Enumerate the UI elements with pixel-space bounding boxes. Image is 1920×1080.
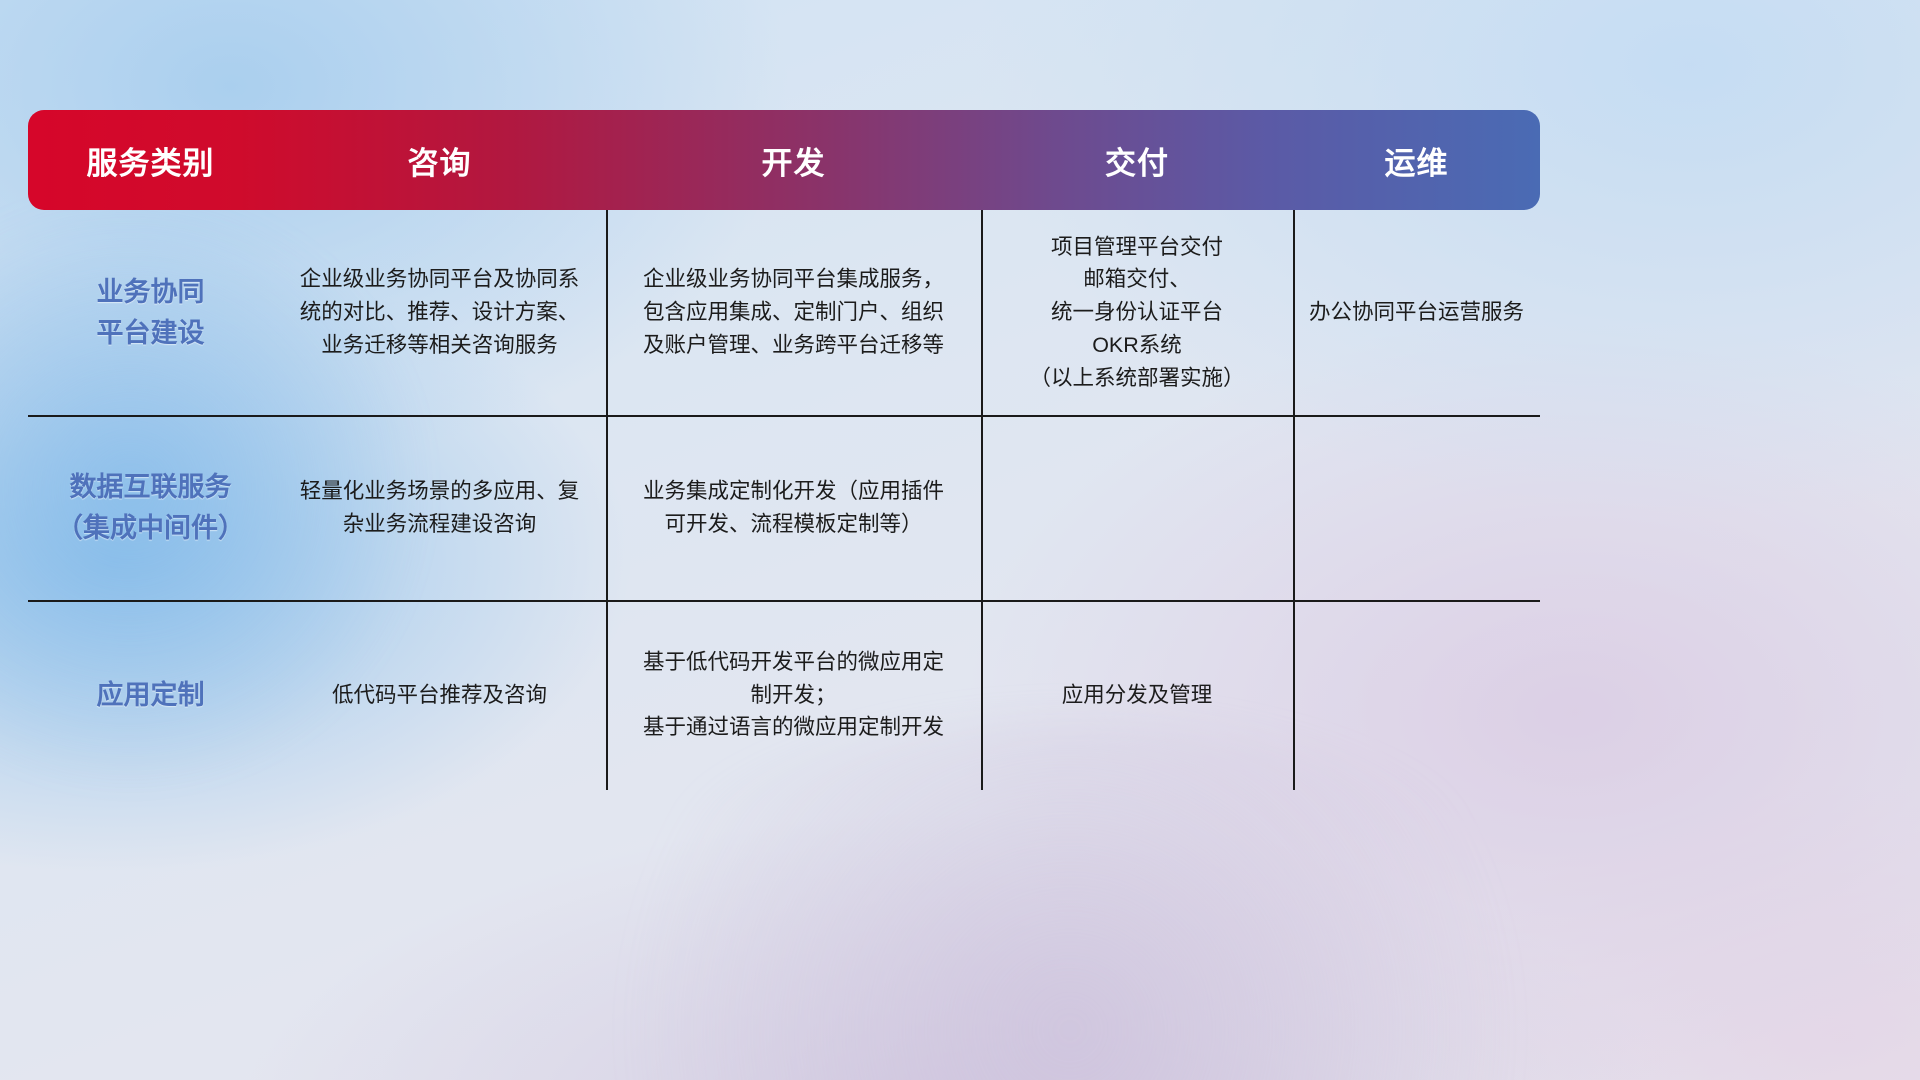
cell-text: 应用分发及管理 [1062, 679, 1213, 712]
cell-text: 企业级业务协同平台及协同系 统的对比、推荐、设计方案、 业务迁移等相关咨询服务 [300, 263, 580, 361]
cell-development: 业务集成定制化开发（应用插件 可开发、流程模板定制等） [606, 415, 981, 600]
cell-text: 项目管理平台交付 邮箱交付、 统一身份认证平台 OKR系统 （以上系统部署实施） [1029, 231, 1244, 394]
column-header-service-category: 服务类别 [28, 138, 273, 183]
cell-development: 企业级业务协同平台集成服务， 包含应用集成、定制门户、组织 及账户管理、业务跨平… [606, 210, 981, 415]
cell-text: 企业级业务协同平台集成服务， 包含应用集成、定制门户、组织 及账户管理、业务跨平… [643, 263, 944, 361]
column-header-development: 开发 [606, 138, 981, 183]
cell-delivery [981, 415, 1293, 600]
cell-consulting: 企业级业务协同平台及协同系 统的对比、推荐、设计方案、 业务迁移等相关咨询服务 [273, 210, 606, 415]
cell-consulting: 低代码平台推荐及咨询 [273, 600, 606, 790]
row-category-label: 业务协同 平台建设 [97, 272, 205, 353]
cell-text: 业务集成定制化开发（应用插件 可开发、流程模板定制等） [643, 475, 944, 540]
cell-consulting: 轻量化业务场景的多应用、复 杂业务流程建设咨询 [273, 415, 606, 600]
table-row: 数据互联服务 （集成中间件） 轻量化业务场景的多应用、复 杂业务流程建设咨询 业… [28, 415, 1540, 600]
column-header-consulting: 咨询 [273, 138, 606, 183]
cell-delivery: 应用分发及管理 [981, 600, 1293, 790]
row-category-label: 数据互联服务 （集成中间件） [56, 467, 245, 548]
cell-text: 办公协同平台运营服务 [1309, 296, 1524, 329]
cell-text: 低代码平台推荐及咨询 [332, 679, 547, 712]
table-row: 应用定制 低代码平台推荐及咨询 基于低代码开发平台的微应用定 制开发； 基于通过… [28, 600, 1540, 790]
cell-text: 基于低代码开发平台的微应用定 制开发； 基于通过语言的微应用定制开发 [643, 646, 944, 744]
row-category-cell: 应用定制 [28, 600, 273, 790]
service-matrix-table: 服务类别 咨询 开发 交付 运维 业务协同 平台建设 企业级业务协同平台及协同系… [28, 110, 1540, 790]
table-header-row: 服务类别 咨询 开发 交付 运维 [28, 110, 1540, 210]
cell-text: 轻量化业务场景的多应用、复 杂业务流程建设咨询 [300, 475, 580, 540]
cell-development: 基于低代码开发平台的微应用定 制开发； 基于通过语言的微应用定制开发 [606, 600, 981, 790]
table-row: 业务协同 平台建设 企业级业务协同平台及协同系 统的对比、推荐、设计方案、 业务… [28, 210, 1540, 415]
cell-operations [1293, 415, 1540, 600]
cell-delivery: 项目管理平台交付 邮箱交付、 统一身份认证平台 OKR系统 （以上系统部署实施） [981, 210, 1293, 415]
row-category-cell: 数据互联服务 （集成中间件） [28, 415, 273, 600]
table-body: 业务协同 平台建设 企业级业务协同平台及协同系 统的对比、推荐、设计方案、 业务… [28, 210, 1540, 790]
column-header-operations: 运维 [1293, 138, 1540, 183]
cell-operations [1293, 600, 1540, 790]
row-category-label: 应用定制 [97, 675, 205, 716]
cell-operations: 办公协同平台运营服务 [1293, 210, 1540, 415]
row-category-cell: 业务协同 平台建设 [28, 210, 273, 415]
column-header-delivery: 交付 [981, 138, 1293, 183]
